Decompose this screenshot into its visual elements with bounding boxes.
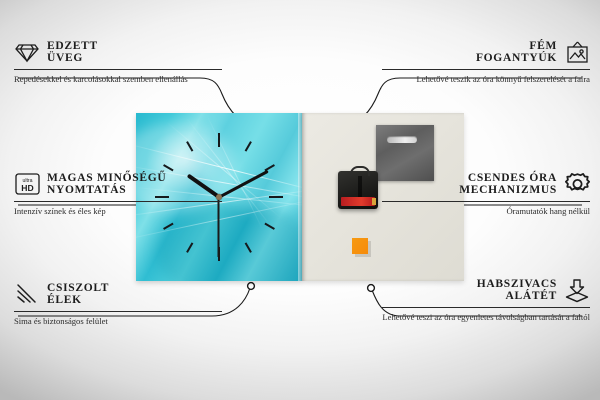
- callout-description: Óramutatók hang nélkül: [382, 206, 590, 217]
- callout-rule: [382, 307, 590, 308]
- callout-rule: [382, 69, 590, 70]
- clock-mechanism-box: [338, 171, 378, 209]
- callout-title-line1: FÉM: [529, 40, 557, 52]
- callout-rule: [14, 69, 222, 70]
- gear-icon: [564, 172, 590, 196]
- callout-tempered-glass: EDZETT ÜVEG Repedésekkel és karcolásokka…: [14, 40, 222, 86]
- callout-description: Intenzív színek és éles kép: [14, 206, 222, 217]
- foam-pad-icon: [564, 278, 590, 302]
- callout-title-line2: NYOMTATÁS: [47, 184, 126, 196]
- pointer-edges: [248, 283, 255, 290]
- polished-edges-icon: [14, 282, 40, 306]
- infographic-stage: EDZETT ÜVEG Repedésekkel és karcolásokka…: [0, 0, 600, 400]
- callout-title-line1: EDZETT: [47, 40, 98, 52]
- pointer-foam: [368, 285, 375, 292]
- callout-title-line2: MECHANIZMUS: [459, 184, 557, 196]
- callout-title-line2: FOGANTYÚK: [476, 52, 557, 64]
- callout-description: Lehetővé teszik az óra könnyű felszerelé…: [382, 74, 590, 85]
- callout-metal-hooks: FÉM FOGANTYÚK Lehetővé teszik az óra kön…: [382, 40, 590, 86]
- callout-title-line1: CSISZOLT: [47, 282, 109, 294]
- callout-description: Repedésekkel és karcolásokkal szemben el…: [14, 74, 222, 85]
- callout-rule: [14, 311, 222, 312]
- callout-title-line1: MAGAS MINŐSÉGŰ: [47, 172, 166, 184]
- callout-foam-pad: HABSZIVACS ALÁTÉT Lehetővé teszi az óra …: [382, 278, 590, 324]
- callout-title-line2: ALÁTÉT: [506, 290, 558, 302]
- callout-high-quality-print: ultra HD MAGAS MINŐSÉGŰ NYOMTATÁS Intenz…: [14, 172, 222, 218]
- callout-rule: [14, 201, 222, 202]
- svg-text:HD: HD: [21, 183, 33, 193]
- callout-description: Sima és biztonságos felület: [14, 316, 222, 327]
- callout-title-line2: ÜVEG: [47, 52, 83, 64]
- callout-title-line1: HABSZIVACS: [477, 278, 557, 290]
- callout-title-line1: CSENDES ÓRA: [468, 172, 557, 184]
- callout-description: Lehetővé teszi az óra egyenletes távolsá…: [382, 312, 590, 323]
- callout-title-line2: ÉLEK: [47, 294, 82, 306]
- diamond-icon: [14, 40, 40, 64]
- ultra-hd-badge-icon: ultra HD: [14, 172, 40, 196]
- callout-polished-edges: CSISZOLT ÉLEK Sima és biztonságos felüle…: [14, 282, 222, 328]
- callout-quiet-mechanism: CSENDES ÓRA MECHANIZMUS Óramutatók hang …: [382, 172, 590, 218]
- picture-hanger-icon: [564, 40, 590, 64]
- foam-pad: [352, 238, 368, 254]
- callout-rule: [382, 201, 590, 202]
